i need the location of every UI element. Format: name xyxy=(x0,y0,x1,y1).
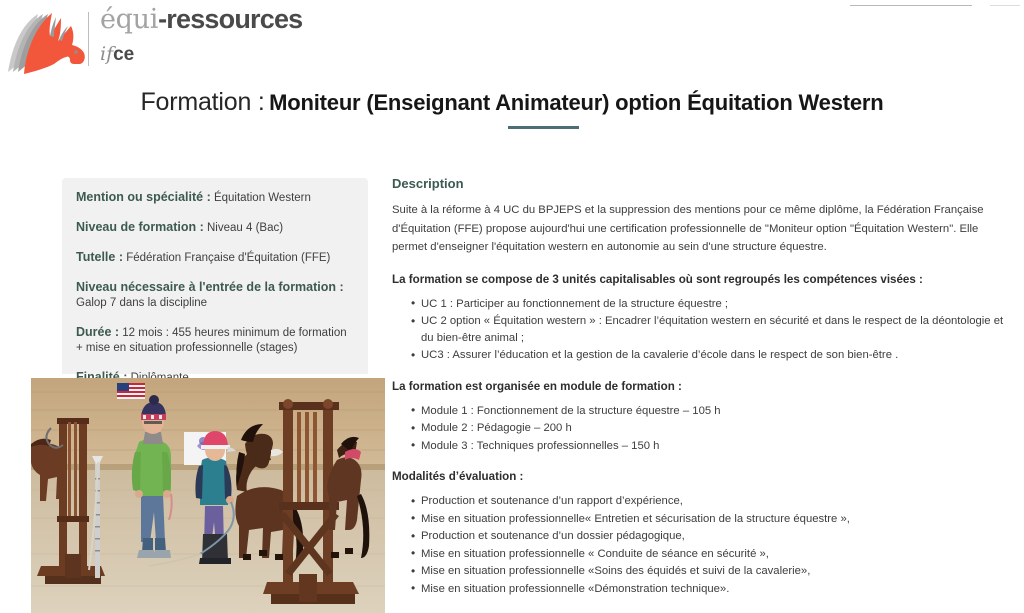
flag-decoration xyxy=(117,383,145,399)
description-paragraph: Suite à la réforme à 4 UC du BPJEPS et l… xyxy=(392,201,1010,257)
info-value: Fédération Française d'Équitation (FFE) xyxy=(123,252,330,264)
list-item: Module 3 : Techniques professionnelles –… xyxy=(412,438,1010,455)
info-label: Mention ou spécialité : xyxy=(76,190,211,204)
page-title: Formation : Moniteur (Enseignant Animate… xyxy=(0,88,1024,117)
info-row: Tutelle : Fédération Française d'Équitat… xyxy=(76,250,350,266)
list-item: Module 2 : Pédagogie – 200 h xyxy=(412,420,1010,437)
logo-sub-italic: if xyxy=(100,43,113,65)
info-label: Niveau nécessaire à l'entrée de la forma… xyxy=(76,280,344,294)
list-item: UC 1 : Participer au fonctionnement de l… xyxy=(412,296,1010,313)
info-row: Niveau de formation : Niveau 4 (Bac) xyxy=(76,220,350,236)
header-divider-line xyxy=(850,5,972,6)
title-underline-rule xyxy=(508,126,579,129)
logo-name-bold: -ressources xyxy=(158,4,302,34)
units-lead: La formation se compose de 3 unités capi… xyxy=(392,271,1010,288)
logo-name-light: équi xyxy=(100,4,158,35)
logo-divider xyxy=(88,12,89,66)
horse-head-icon xyxy=(4,6,90,78)
logo-sub-bold: ce xyxy=(113,44,134,65)
info-value: Niveau 4 (Bac) xyxy=(204,222,283,234)
info-value: Galop 7 dans la discipline xyxy=(76,297,207,309)
description-heading: Description xyxy=(392,176,1010,191)
info-value: Équitation Western xyxy=(211,192,311,204)
list-item: Mise en situation professionnelle «Démon… xyxy=(412,581,1010,598)
info-row: Durée : 12 mois : 455 heures minimum de … xyxy=(76,325,350,356)
info-row: Niveau nécessaire à l'entrée de la forma… xyxy=(76,280,350,311)
arena-scene-illustration xyxy=(31,378,385,613)
info-label: Durée : xyxy=(76,325,119,339)
modules-list: Module 1 : Fonctionnement de la structur… xyxy=(392,403,1010,455)
list-item: Production et soutenance d’un rapport d’… xyxy=(412,493,1010,510)
info-label: Tutelle : xyxy=(76,250,123,264)
description-column: Description Suite à la réforme à 4 UC du… xyxy=(392,176,1010,611)
site-logo[interactable]: équi-ressources ifce xyxy=(4,6,304,82)
page-title-prefix: Formation : xyxy=(140,88,264,116)
page-title-main: Moniteur (Enseignant Animateur) option É… xyxy=(269,90,883,115)
logo-wordmark: équi-ressources ifce xyxy=(100,6,302,64)
header-divider-line-secondary xyxy=(990,5,1020,6)
list-item: Mise en situation professionnelle «Soins… xyxy=(412,563,1010,580)
list-item: Mise en situation professionnelle « Cond… xyxy=(412,546,1010,563)
info-row: Mention ou spécialité : Équitation Weste… xyxy=(76,190,350,206)
formation-info-card: Mention ou spécialité : Équitation Weste… xyxy=(62,178,368,374)
formation-photo xyxy=(31,378,385,613)
info-label: Niveau de formation : xyxy=(76,220,204,234)
list-item: UC3 : Assurer l’éducation et la gestion … xyxy=(412,347,1010,364)
list-item: Mise en situation professionnelle« Entre… xyxy=(412,511,1010,528)
evaluation-lead: Modalités d’évaluation : xyxy=(392,468,1010,485)
list-item: UC 2 option « Équitation western » : Enc… xyxy=(412,313,1010,346)
units-list: UC 1 : Participer au fonctionnement de l… xyxy=(392,296,1010,364)
list-item: Module 1 : Fonctionnement de la structur… xyxy=(412,403,1010,420)
list-item: Production et soutenance d’un dossier pé… xyxy=(412,528,1010,545)
evaluation-list: Production et soutenance d’un rapport d’… xyxy=(392,493,1010,597)
modules-lead: La formation est organisée en module de … xyxy=(392,378,1010,395)
